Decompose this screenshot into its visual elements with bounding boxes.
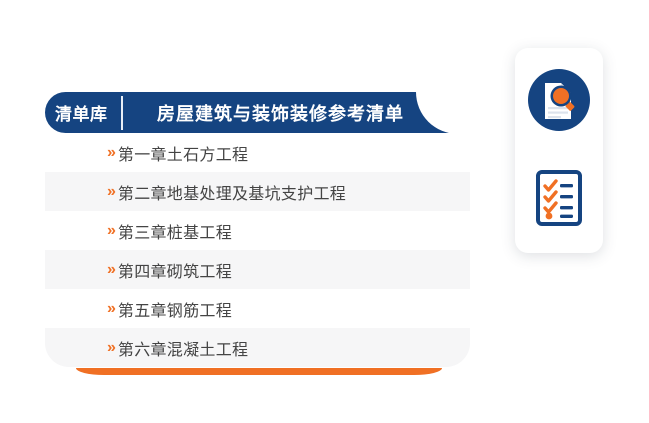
chevron-right-icon: » — [107, 223, 116, 239]
list-item[interactable]: » 第六章混凝土工程 — [45, 328, 470, 367]
list-item[interactable]: » 第五章钢筋工程 — [45, 289, 470, 328]
list-bottom-accent-bar — [76, 368, 442, 375]
list-item[interactable]: » 第四章砌筑工程 — [45, 250, 470, 289]
list-item[interactable]: » 第二章地基处理及基坑支护工程 — [45, 172, 470, 211]
list-item-label: 第一章土石方工程 — [118, 141, 248, 165]
list-item[interactable]: » 第一章土石方工程 — [45, 133, 470, 172]
chevron-right-icon: » — [107, 301, 116, 317]
chevron-right-icon: » — [107, 145, 116, 161]
list-item-label: 第三章桩基工程 — [118, 219, 232, 243]
icon-card — [515, 48, 603, 253]
chevron-right-icon: » — [107, 340, 116, 356]
page-title: 房屋建筑与装饰装修参考清单 — [123, 100, 468, 126]
document-search-icon — [528, 69, 590, 131]
list-item-label: 第六章混凝土工程 — [118, 336, 248, 360]
chevron-right-icon: » — [107, 184, 116, 200]
list-header-bar: 清单库 房屋建筑与装饰装修参考清单 — [45, 92, 468, 133]
checklist-icon — [535, 169, 583, 227]
list-header-tag: 清单库 — [45, 100, 121, 125]
catalog-list-panel: 清单库 房屋建筑与装饰装修参考清单 » 第一章土石方工程 » 第二章地基处理及基… — [0, 92, 470, 372]
chapter-list: » 第一章土石方工程 » 第二章地基处理及基坑支护工程 » 第三章桩基工程 » … — [45, 133, 470, 367]
list-item-label: 第四章砌筑工程 — [118, 258, 232, 282]
list-item-label: 第五章钢筋工程 — [118, 297, 232, 321]
chevron-right-icon: » — [107, 262, 116, 278]
list-header-content: 清单库 房屋建筑与装饰装修参考清单 — [45, 92, 468, 133]
list-item[interactable]: » 第三章桩基工程 — [45, 211, 470, 250]
list-item-label: 第二章地基处理及基坑支护工程 — [118, 180, 346, 204]
